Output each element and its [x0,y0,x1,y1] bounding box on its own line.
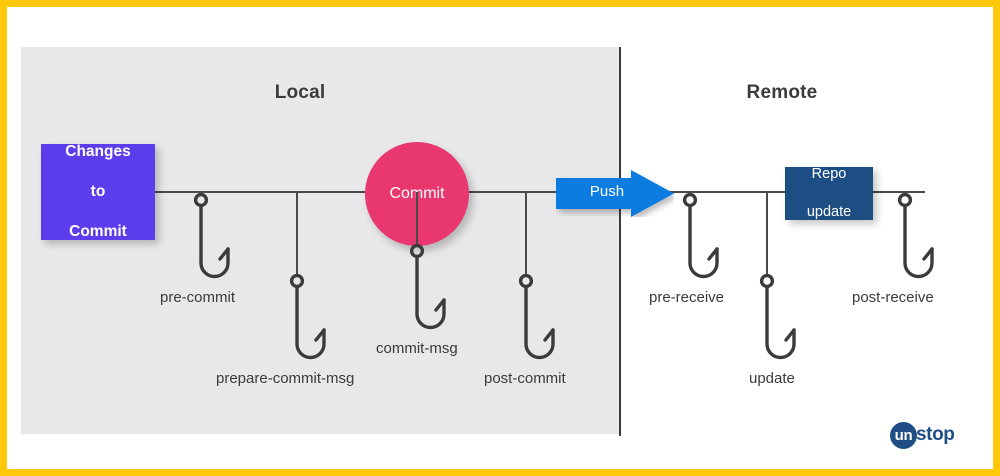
hook-icon-post-commit [512,272,562,381]
diagram-canvas: Local Remote ChangestoCommit Commit Push… [0,0,1000,476]
push-label: Push [568,183,646,200]
local-zone-title: Local [230,82,370,104]
local-remote-divider [619,47,621,436]
hook-icon-prepare-commit-msg [283,272,333,381]
hook-stem-update [766,192,767,274]
repo-update-box[interactable]: Repoupdate [785,167,873,220]
hook-icon-post-receive [891,191,941,300]
hook-icon-update [753,272,803,381]
hook-icon-pre-commit [187,191,237,300]
unstop-logo-mark: un [890,422,917,449]
remote-zone-title: Remote [712,82,852,104]
hook-label-post-commit: post-commit [484,370,566,387]
hook-stem-post-commit [525,192,526,274]
push-arrow[interactable]: Push [556,170,674,217]
changes-to-commit-label: ChangestoCommit [65,142,130,242]
hook-label-update: update [749,370,795,387]
hook-stem-commit-msg [416,192,417,244]
hook-label-pre-commit: pre-commit [160,289,235,306]
hook-icon-commit-msg [403,242,453,351]
hook-label-post-receive: post-receive [852,289,934,306]
unstop-logo: un stop [890,420,982,450]
hook-label-pre-receive: pre-receive [649,289,724,306]
changes-to-commit-box[interactable]: ChangestoCommit [41,144,155,240]
hook-label-commit-msg: commit-msg [376,340,458,357]
hook-label-prepare-commit-msg: prepare-commit-msg [216,370,354,387]
repo-update-label: Repoupdate [807,165,851,222]
hook-icon-pre-receive [676,191,726,300]
hook-stem-prepare-commit-msg [296,192,297,274]
unstop-logo-text: stop [916,424,955,446]
